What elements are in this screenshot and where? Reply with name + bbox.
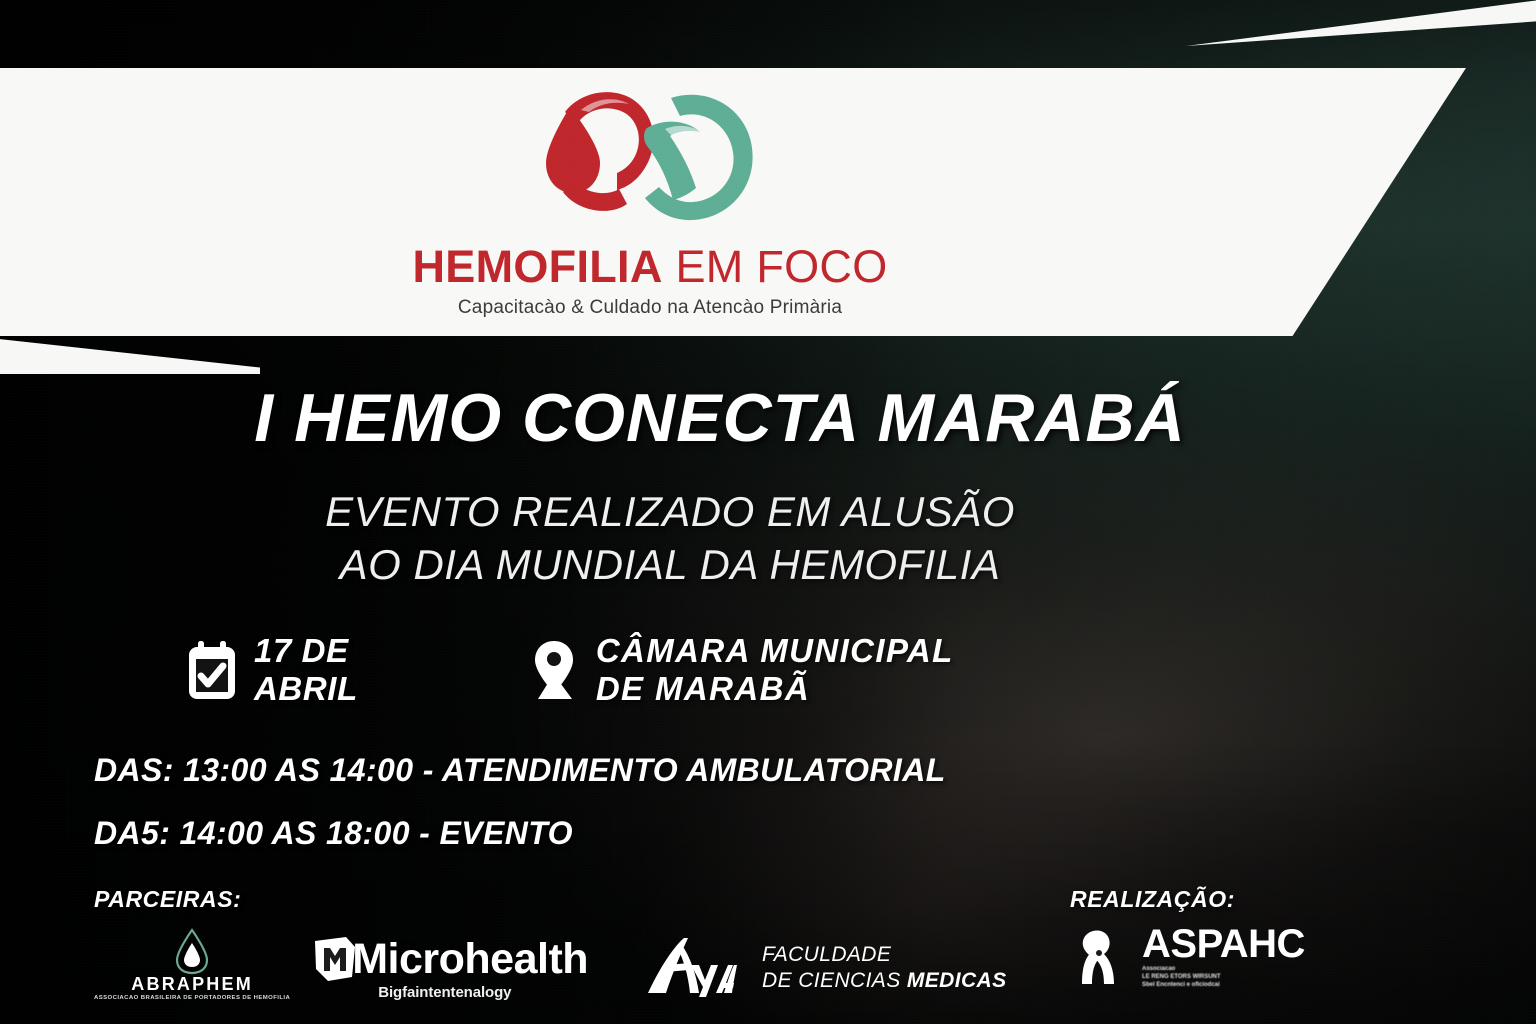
abraphem-drop-icon	[172, 927, 212, 975]
page-subtitle: EVENTO REALIZADO EM ALUSÃO AO DIA MUNDIA…	[0, 486, 1340, 591]
location-pin-icon	[528, 639, 580, 701]
event-poster: HEMOFILIA EM FOCO Capacitacào & Culdado …	[0, 0, 1536, 1024]
logo-tagline: Capacitacào & Culdado na Atencào Primàri…	[458, 297, 842, 319]
partner-logo-list: ABRAPHEM ASSOCIACAO BRASILEIRA DE PORTAD…	[94, 927, 1007, 1001]
partner-logo-afya: FACULDADE DE CIENCIAS MEDICAS	[644, 935, 1006, 1001]
afya-text: FACULDADE DE CIENCIAS MEDICAS	[762, 942, 1006, 993]
aspahc-figure-icon	[1070, 926, 1128, 988]
aspahc-tag-line-3: Sbel Encntenci e oficiodcai	[1142, 981, 1305, 989]
event-venue-line-1: CÂMARA MUNICIPAL	[596, 632, 954, 670]
event-venue: CÂMARA MUNICIPAL DE MARABÃ	[528, 632, 954, 707]
event-date-line-2: ABRIL	[254, 670, 358, 708]
calendar-check-icon	[186, 639, 238, 701]
event-venue-text: CÂMARA MUNICIPAL DE MARABÃ	[596, 632, 954, 707]
aspahc-tag-line-2: LE RENG ETORS WIRSUNT	[1142, 973, 1305, 981]
partner-logo-abraphem: ABRAPHEM ASSOCIACAO BRASILEIRA DE PORTAD…	[94, 927, 290, 1001]
subtitle-line-2: AO DIA MUNDIAL DA HEMOFILIA	[0, 539, 1340, 592]
afya-mark-icon	[644, 935, 740, 1001]
afya-line-2-plain: DE CIENCIAS	[762, 969, 907, 992]
partner-logo-microhealth: Microhealth Bigfaintentenalogy	[312, 935, 588, 1001]
afya-line-2: DE CIENCIAS MEDICAS	[762, 968, 1006, 994]
event-venue-line-2: DE MARABÃ	[596, 670, 954, 708]
afya-line-1: FACULDADE	[762, 942, 1006, 968]
microhealth-tagline: Bigfaintentenalogy	[378, 984, 588, 1001]
partners-label: PARCEIRAS:	[94, 886, 1007, 913]
abraphem-tagline: ASSOCIACAO BRASILEIRA DE PORTADORES DE H…	[94, 995, 290, 1000]
realization-logo-aspahc: ASPAHC Associacao LE RENG ETORS WIRSUNT …	[1070, 925, 1305, 989]
schedule-line: DAS: 13:00 AS 14:00 - ATENDIMENTO AMBULA…	[94, 752, 946, 789]
aspahc-name: ASPAHC	[1142, 925, 1305, 963]
aspahc-tagline: Associacao LE RENG ETORS WIRSUNT Sbel En…	[1142, 965, 1305, 989]
event-date: 17 DE ABRIL	[186, 632, 358, 707]
microhealth-wordmark-row: Microhealth	[312, 935, 588, 983]
subtitle-line-1: EVENTO REALIZADO EM ALUSÃO	[0, 486, 1340, 539]
microhealth-name: Microhealth	[352, 939, 588, 980]
logo-wordmark: HEMOFILIA EM FOCO	[412, 244, 887, 289]
event-schedule: DAS: 13:00 AS 14:00 - ATENDIMENTO AMBULA…	[94, 752, 946, 878]
hemofilia-logo-icon	[521, 80, 779, 240]
aspahc-tag-line-1: Associacao	[1142, 965, 1305, 973]
realization-label: REALIZAÇÃO:	[1070, 886, 1305, 913]
event-date-text: 17 DE ABRIL	[254, 632, 358, 707]
realization-section: REALIZAÇÃO: ASPAHC Associacao LE RENG ET…	[1070, 886, 1305, 989]
aspahc-text: ASPAHC Associacao LE RENG ETORS WIRSUNT …	[1142, 925, 1305, 989]
brand-logo: HEMOFILIA EM FOCO Capacitacào & Culdado …	[0, 80, 1300, 319]
logo-wordmark-light: EM FOCO	[663, 241, 888, 292]
schedule-line: DA5: 14:00 AS 18:00 - EVENTO	[94, 815, 946, 852]
logo-wordmark-bold: HEMOFILIA	[412, 241, 662, 292]
event-date-line-1: 17 DE	[254, 632, 358, 670]
event-info-row: 17 DE ABRIL CÂMARA MUNICIPAL DE MARABÃ	[186, 632, 954, 707]
partners-section: PARCEIRAS: ABRAPHEM ASSOCIACAO BRASILEIR…	[94, 886, 1007, 1001]
abraphem-name: ABRAPHEM	[131, 975, 253, 993]
page-title: I HEMO CONECTA MARABÁ	[0, 384, 1440, 452]
afya-line-2-bold: MEDICAS	[907, 969, 1007, 992]
